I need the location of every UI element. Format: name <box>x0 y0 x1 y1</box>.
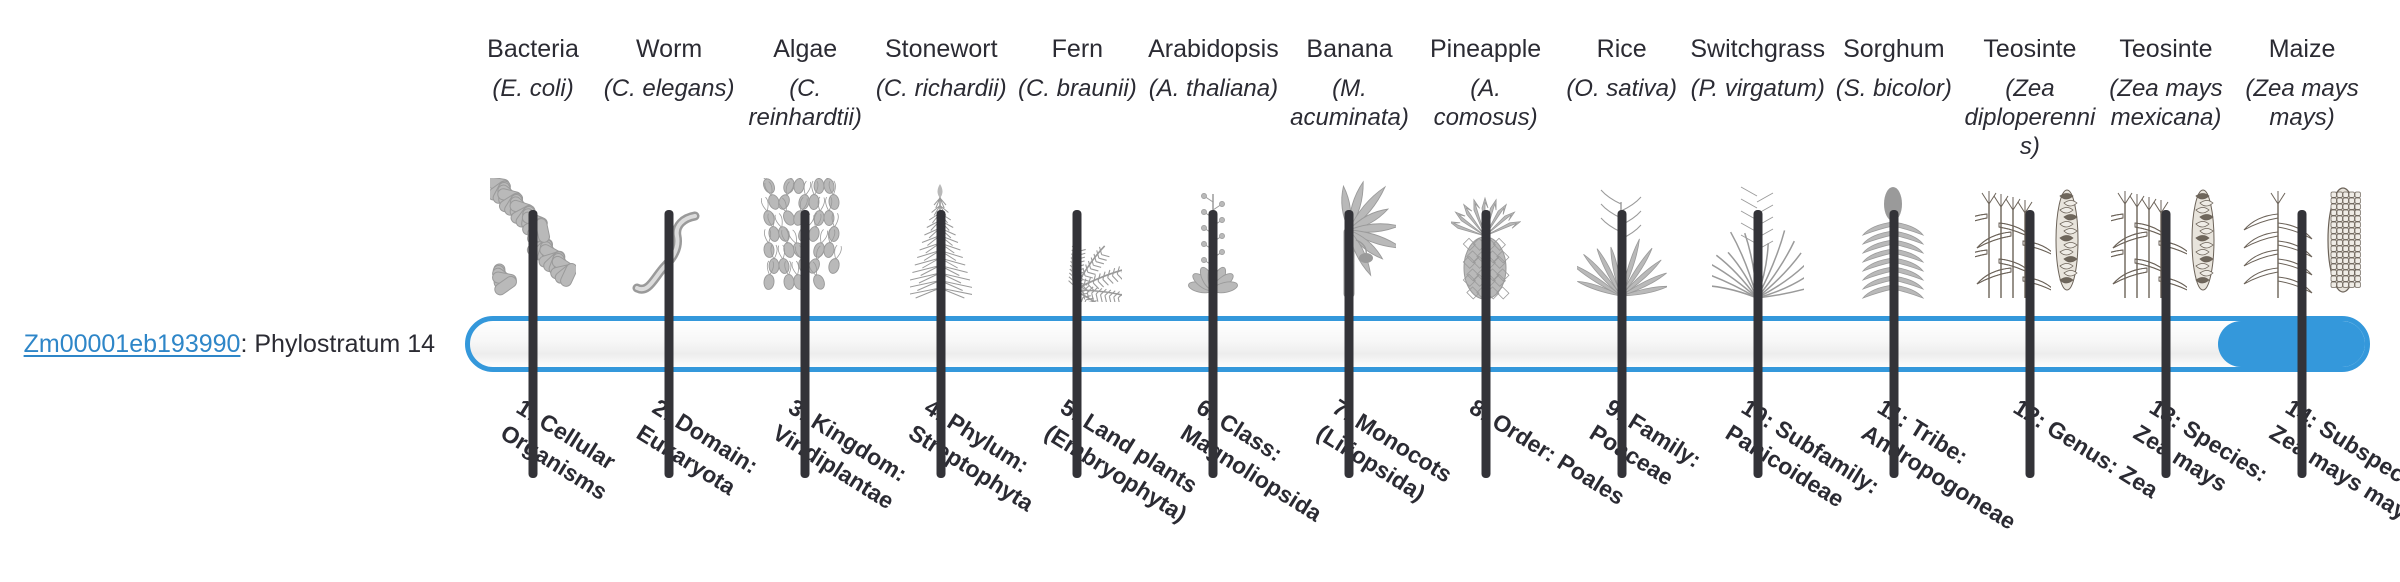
species-common-name: Teosinte <box>1983 34 2076 65</box>
species-common-name: Pineapple <box>1430 34 1541 65</box>
species-scientific-name: (M. acuminata) <box>1281 74 1417 132</box>
species-scientific-name: (Zea diploperennis) <box>1962 74 2098 161</box>
species-common-name: Worm <box>636 34 702 65</box>
species-common-name: Bacteria <box>487 34 579 65</box>
species-scientific-name: (Zea mays mays) <box>2234 74 2370 132</box>
stratum-label-row: 1: Cellular Organisms2: Domain: Eukaryot… <box>465 392 2370 582</box>
species-common-name: Maize <box>2269 34 2336 65</box>
species-common-name: Banana <box>1306 34 1392 65</box>
species-scientific-name: (C. richardii) <box>876 74 1007 103</box>
species-scientific-name: (Zea mays mexicana) <box>2098 74 2234 132</box>
species-scientific-name: (C. reinhardtii) <box>737 74 873 132</box>
species-scientific-name: (C. elegans) <box>604 74 735 103</box>
species-common-name: Algae <box>773 34 837 65</box>
species-common-name: Arabidopsis <box>1148 34 1279 65</box>
species-scientific-name: (O. sativa) <box>1566 74 1677 103</box>
species-scientific-name: (A. thaliana) <box>1149 74 1278 103</box>
stratum-tick[interactable] <box>665 210 674 478</box>
stratum-tick[interactable] <box>2297 210 2306 478</box>
species-common-name: Sorghum <box>1843 34 1944 65</box>
phylostratum-fill <box>2218 321 2370 367</box>
stratum-tick[interactable] <box>529 210 538 478</box>
species-scientific-name: (E. coli) <box>492 74 573 103</box>
gene-label-separator: : <box>240 330 254 358</box>
phylostratum-track[interactable] <box>465 316 2370 372</box>
species-scientific-name: (A. comosus) <box>1418 74 1554 132</box>
stratum-tick[interactable] <box>1753 210 1762 478</box>
stratum-tick[interactable] <box>1481 210 1490 478</box>
stratum-tick[interactable] <box>1617 210 1626 478</box>
stratum-tick[interactable] <box>1889 210 1898 478</box>
species-common-name: Fern <box>1052 34 1103 65</box>
species-header-row: Bacteria(E. coli) <box>465 34 2370 304</box>
species-scientific-name: (S. bicolor) <box>1836 74 1952 103</box>
species-common-name: Teosinte <box>2119 34 2212 65</box>
species-common-name: Stonewort <box>885 34 998 65</box>
stratum-tick[interactable] <box>2025 210 2034 478</box>
stratum-tick[interactable] <box>1209 210 1218 478</box>
stratum-tick[interactable] <box>1345 210 1354 478</box>
species-scientific-name: (C. braunii) <box>1018 74 1137 103</box>
species-common-name: Rice <box>1597 34 1647 65</box>
gene-id-link[interactable]: Zm00001eb193990 <box>24 330 241 358</box>
stratum-tick[interactable] <box>801 210 810 478</box>
gene-row-label: Zm00001eb193990: Phylostratum 14 <box>0 329 450 359</box>
phylostratigraphy-figure: Zm00001eb193990: Phylostratum 14 Bacteri… <box>0 0 2400 580</box>
species-scientific-name: (P. virgatum) <box>1691 74 1825 103</box>
stratum-tick[interactable] <box>2161 210 2170 478</box>
stratum-tick[interactable] <box>1073 210 1082 478</box>
species-common-name: Switchgrass <box>1690 34 1825 65</box>
phylostratum-value-label: Phylostratum 14 <box>254 330 435 358</box>
stratum-tick[interactable] <box>937 210 946 478</box>
phylostratum-timeline <box>465 316 2370 372</box>
